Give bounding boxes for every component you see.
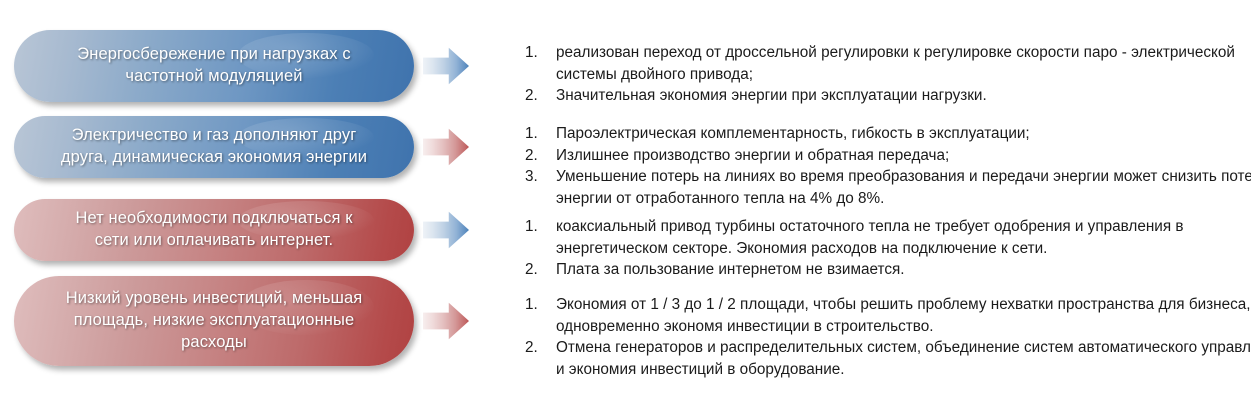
list-item: 1. Экономия от 1 / 3 до 1 / 2 площади, ч… [522,294,1251,337]
pill-label-row-1: Энергосбережение при нагрузках с частотн… [77,44,350,88]
list-item-text: Экономия от 1 / 3 до 1 / 2 площади, чтоб… [556,294,1251,337]
list-item-text: Уменьшение потерь на линиях во время пре… [556,166,1251,209]
list-item: 2. Отмена генераторов и распределительны… [522,337,1251,380]
diagram-row-3: Нет необходимости подключаться к сети ил… [0,199,470,261]
detail-list-row-3: 1. коаксиальный привод турбины остаточно… [482,216,1251,281]
arrow-right-icon-row-1 [423,47,469,85]
pill-label-row-3: Нет необходимости подключаться к сети ил… [75,208,352,252]
list-item-number: 1. [522,294,556,316]
list-item-number: 1. [522,123,556,145]
list-item: 1. Пароэлектрическая комплементарность, … [522,123,1251,145]
list-item-number: 2. [522,145,556,167]
pill-row-1[interactable]: Энергосбережение при нагрузках с частотн… [14,30,414,102]
pill-label-row-2: Электричество и газ дополняют друг друга… [61,125,367,169]
list-item-number: 2. [522,337,556,359]
list-item-text: Отмена генераторов и распределительных с… [556,337,1251,380]
list-item: 3. Уменьшение потерь на линиях во время … [522,166,1251,209]
arrow-right-icon-row-4 [423,302,469,340]
detail-lists-column: 1. реализован переход от дроссельной рег… [482,0,1251,402]
pill-label-row-4: Низкий уровень инвестиций, меньшая площа… [66,288,363,353]
diagram-row-4: Низкий уровень инвестиций, меньшая площа… [0,276,470,366]
list-item-text: коаксиальный привод турбины остаточного … [556,216,1251,259]
list-item: 2. Значительная экономия энергии при экс… [522,85,1251,107]
list-item-number: 1. [522,216,556,238]
list-item: 2. Плата за пользование интернетом не вз… [522,259,1251,281]
list-item: 1. реализован переход от дроссельной рег… [522,42,1251,85]
diagram-row-2: Электричество и газ дополняют друг друга… [0,116,470,178]
detail-list-row-4: 1. Экономия от 1 / 3 до 1 / 2 площади, ч… [482,294,1251,381]
detail-list-row-1: 1. реализован переход от дроссельной рег… [482,42,1251,107]
list-item: 1. коаксиальный привод турбины остаточно… [522,216,1251,259]
list-item-number: 2. [522,85,556,107]
list-item-number: 3. [522,166,556,188]
arrow-right-icon-row-2 [423,128,469,166]
slide-canvas: Энергосбережение при нагрузках с частотн… [0,0,1251,402]
pill-row-3[interactable]: Нет необходимости подключаться к сети ил… [14,199,414,261]
pill-row-2[interactable]: Электричество и газ дополняют друг друга… [14,116,414,178]
list-item-text: Плата за пользование интернетом не взима… [556,259,1251,281]
list-item-text: Пароэлектрическая комплементарность, гиб… [556,123,1251,145]
arrow-right-icon-row-3 [423,211,469,249]
list-item-number: 2. [522,259,556,281]
diagram-row-1: Энергосбережение при нагрузках с частотн… [0,30,470,102]
detail-list-row-2: 1. Пароэлектрическая комплементарность, … [482,123,1251,210]
pill-row-4[interactable]: Низкий уровень инвестиций, меньшая площа… [14,276,414,366]
list-item-number: 1. [522,42,556,64]
list-item-text: реализован переход от дроссельной регули… [556,42,1251,85]
list-item-text: Значительная экономия энергии при эксплу… [556,85,1251,107]
list-item-text: Излишнее производство энергии и обратная… [556,145,1251,167]
list-item: 2. Излишнее производство энергии и обрат… [522,145,1251,167]
